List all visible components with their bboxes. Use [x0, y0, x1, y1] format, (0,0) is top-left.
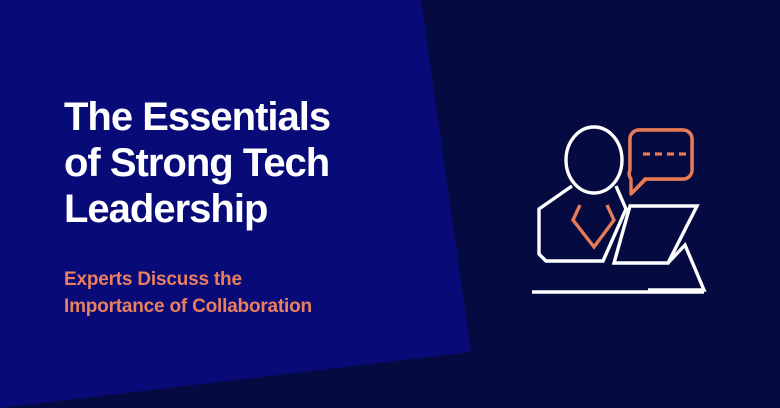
speech-bubble-outline-icon: [629, 130, 692, 194]
page-subtitle: Experts Discuss the Importance of Collab…: [64, 232, 404, 320]
necktie-icon: [573, 205, 614, 247]
text-block: The Essentials of Strong Tech Leadership…: [64, 94, 404, 320]
page-title: The Essentials of Strong Tech Leadership: [64, 94, 404, 232]
illustration: [508, 108, 740, 313]
laptop-screen-icon: [614, 206, 697, 263]
person-head-icon: [566, 127, 622, 193]
laptop-base-icon: [648, 245, 704, 290]
promo-banner: The Essentials of Strong Tech Leadership…: [0, 0, 780, 408]
